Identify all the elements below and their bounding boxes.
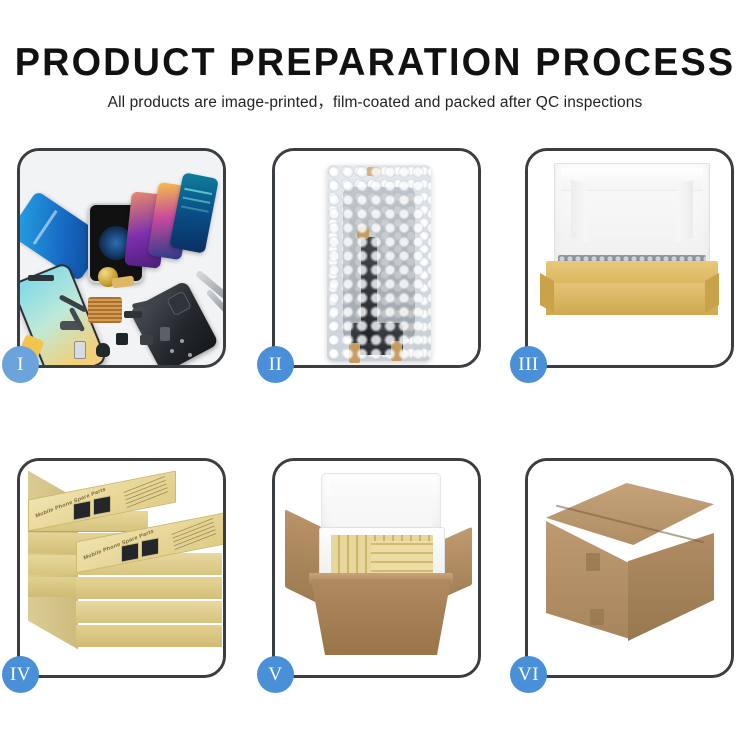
box-spec-lines (172, 518, 217, 551)
page-subtitle: All products are image-printed，film-coat… (0, 93, 750, 113)
page-title: PRODUCT PREPARATION PROCESS (11, 42, 739, 84)
carton-right-face (628, 533, 714, 641)
stacked-retail-boxes-photo: Mobile Phone Spare Parts Mobile Phone Sp… (20, 461, 223, 675)
chip-part (96, 343, 110, 357)
box-stack: Mobile Phone Spare Parts Mobile Phone Sp… (24, 475, 223, 661)
stacked-box (76, 577, 222, 599)
step-image-3 (528, 151, 731, 365)
bubble-wrapped-part-photo (275, 151, 478, 365)
products-and-parts-photo (20, 151, 223, 365)
open-kraft-box-photo (528, 151, 731, 365)
header: PRODUCT PREPARATION PROCESS All products… (0, 0, 750, 113)
lid-right-wing (677, 180, 693, 242)
bubble-texture (327, 165, 431, 361)
step-badge-5: V (257, 656, 294, 693)
product-preparation-infographic: PRODUCT PREPARATION PROCESS All products… (0, 0, 750, 750)
screw (180, 339, 184, 343)
bubble-wrap-bag (327, 165, 431, 361)
box-window (93, 495, 111, 515)
carton-body (311, 579, 451, 655)
box-window (121, 542, 139, 562)
step-card-4: Mobile Phone Spare Parts Mobile Phone Sp… (17, 458, 226, 678)
box-spec-lines (124, 476, 169, 509)
chip-part (28, 275, 54, 281)
copper-mesh-part (88, 297, 122, 323)
kraft-box-left-corner (540, 273, 554, 313)
chip-part (160, 327, 170, 341)
chip-part (140, 335, 153, 345)
step-image-5 (275, 461, 478, 675)
step-card-1: I (17, 148, 226, 368)
screw (188, 353, 192, 357)
carton-tape (586, 553, 600, 571)
foam-lid (321, 473, 441, 535)
box-window (141, 537, 159, 557)
chip-part (116, 333, 128, 345)
step-badge-4: IV (2, 656, 39, 693)
step-image-1 (20, 151, 223, 365)
screw (170, 349, 174, 353)
carton-with-foam-photo (275, 461, 478, 675)
step-card-5: V (272, 458, 481, 678)
box-window (73, 500, 91, 520)
step-card-6: VI (525, 458, 734, 678)
lid-left-wing (571, 180, 587, 242)
sealed-shipping-carton-photo (528, 461, 731, 675)
stacked-box (76, 625, 222, 647)
step-card-3: III (525, 148, 734, 368)
adhesive-strip (111, 276, 134, 289)
step-image-4: Mobile Phone Spare Parts Mobile Phone Sp… (20, 461, 223, 675)
stacked-box (76, 601, 222, 623)
step-badge-3: III (510, 346, 547, 383)
kraft-box-front (546, 283, 718, 315)
step-badge-6: VI (510, 656, 547, 693)
step-badge-1: I (2, 346, 39, 383)
carton-tape (590, 609, 604, 625)
step-image-6 (528, 461, 731, 675)
step-card-2: II (272, 148, 481, 368)
step-image-2 (275, 151, 478, 365)
chip-part (74, 341, 86, 359)
steps-grid: I II (17, 148, 734, 678)
step-badge-2: II (257, 346, 294, 383)
chip-part (124, 311, 142, 318)
